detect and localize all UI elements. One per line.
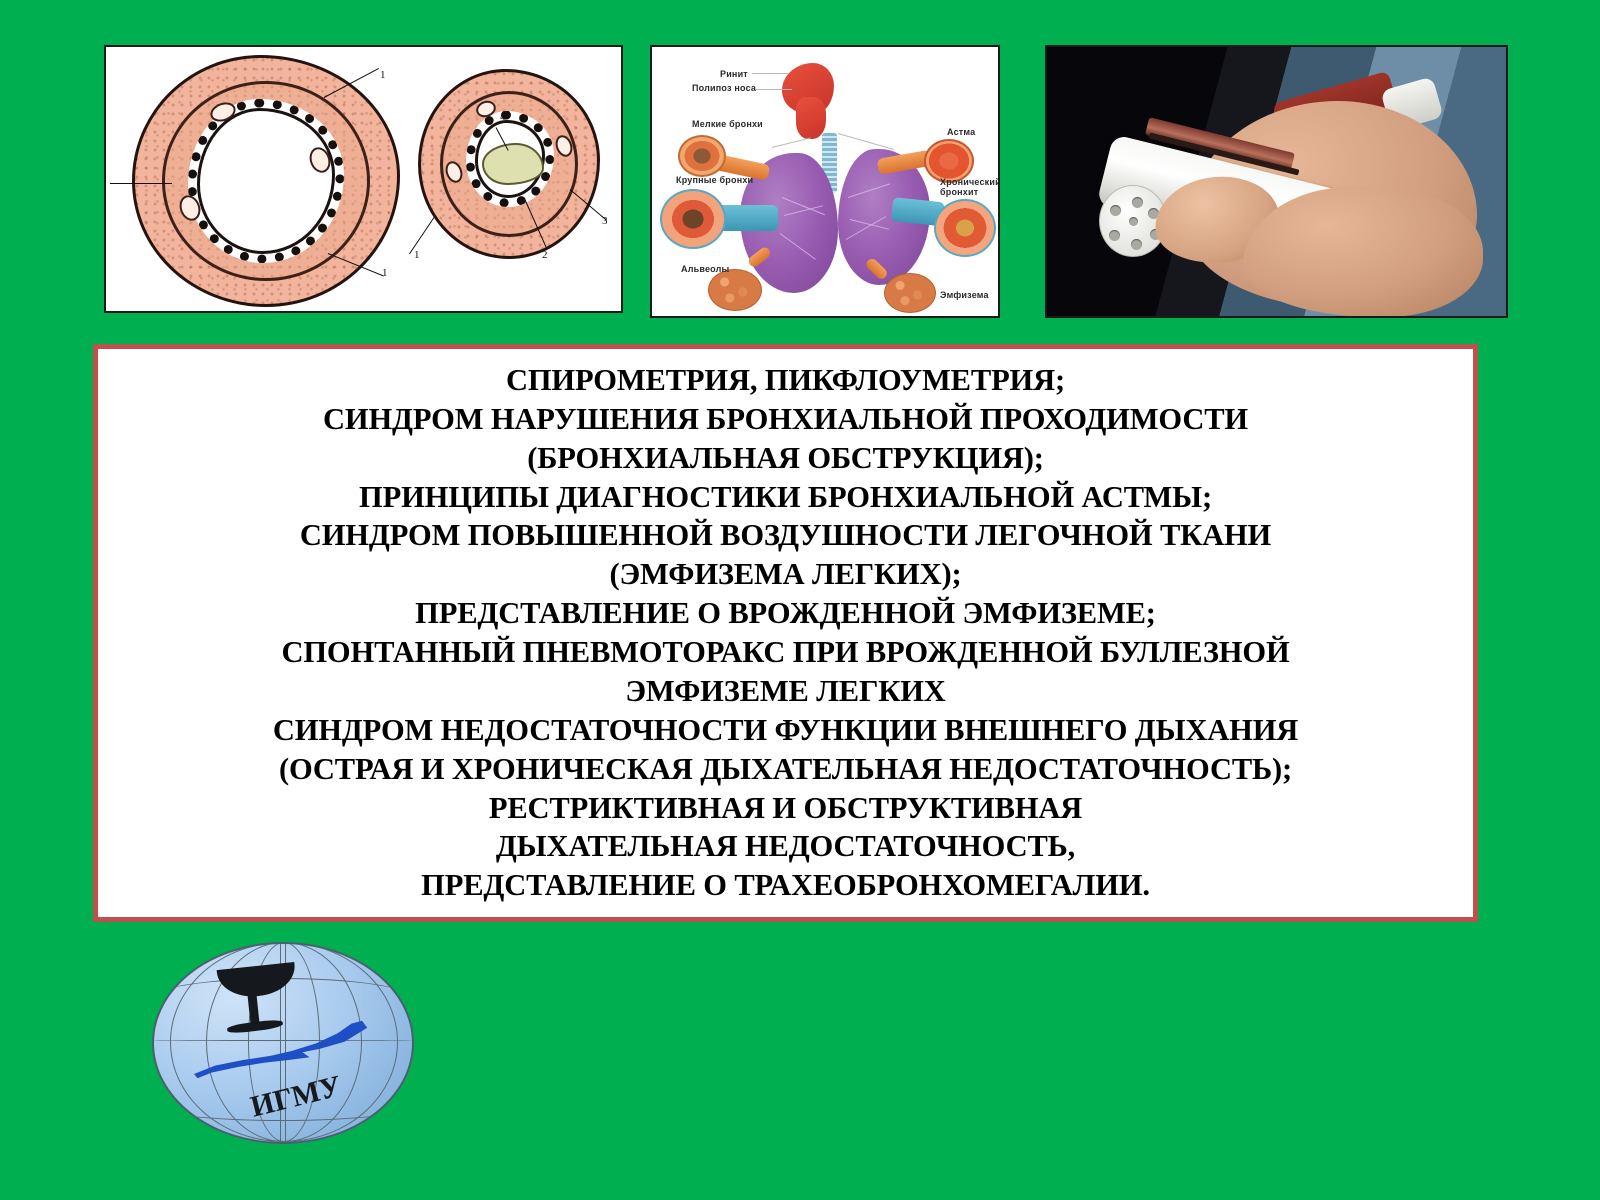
globe-graphic: ИГМУ <box>152 942 414 1144</box>
peak-flow-meter-image <box>1045 45 1508 318</box>
topic-line: СПИРОМЕТРИЯ, ПИКФЛОУМЕТРИЯ; <box>108 361 1463 400</box>
chronic-bronchitis-cross-section <box>934 199 996 257</box>
small-bronchus-cross-section <box>678 135 726 177</box>
topic-line: ДЫХАТЕЛЬНАЯ НЕДОСТАТОЧНОСТЬ, <box>108 827 1463 866</box>
air-hole <box>1110 205 1121 216</box>
label-1-top: 1 <box>380 69 386 81</box>
label-chronic-bronchitis: Хронический бронхит <box>940 177 998 198</box>
air-hole <box>1109 230 1120 241</box>
topic-line: ПРЕДСТАВЛЕНИЕ О ВРОЖДЕННОЙ ЭМФИЗЕМЕ; <box>108 594 1463 633</box>
label-small-bronchi: Мелкие бронхи <box>692 119 763 129</box>
label-2: 2 <box>542 249 548 261</box>
leader-line <box>409 217 434 254</box>
bronchi-cross-section-image: 1 1 3 4 1 2 3 <box>104 45 623 313</box>
topic-line: СИНДРОМ НЕДОСТАТОЧНОСТИ ФУНКЦИИ ВНЕШНЕГО… <box>108 711 1463 750</box>
palm <box>1243 187 1483 317</box>
label-4: 4 <box>500 111 506 123</box>
label-3: 3 <box>602 215 608 227</box>
label-nasal-polyposis: Полипоз носа <box>692 83 756 93</box>
air-hole <box>1132 197 1143 208</box>
topic-line: (ЭМФИЗЕМА ЛЕГКИХ); <box>108 555 1463 594</box>
label-large-bronchi: Крупные бронхи <box>676 175 753 185</box>
label-rhinitis: Ринит <box>720 69 748 79</box>
topic-line: ЭМФИЗЕМЕ ЛЕГКИХ <box>108 672 1463 711</box>
emphysema-alveoli-cluster <box>884 273 936 313</box>
parallel-line <box>152 1040 413 1041</box>
leader-line <box>752 73 788 74</box>
label-asthma: Астма <box>947 127 975 137</box>
topic-line: СПОНТАННЫЙ ПНЕВМОТОРАКС ПРИ ВРОЖДЕННОЙ Б… <box>108 633 1463 672</box>
normal-bronchus-figure: 1 1 3 <box>132 55 400 307</box>
topic-line: СИНДРОМ НАРУШЕНИЯ БРОНХИАЛЬНОЙ ПРОХОДИМО… <box>108 400 1463 439</box>
slide-canvas: 1 1 3 4 1 2 3 <box>0 0 1600 1200</box>
lecture-topics-text: СПИРОМЕТРИЯ, ПИКФЛОУМЕТРИЯ; СИНДРОМ НАРУ… <box>98 361 1473 905</box>
lungs-anatomy-image: Ринит Полипоз носа Мелкие бронхи Крупные… <box>650 45 1000 318</box>
label-3: 3 <box>104 175 106 187</box>
large-bronchus-cross-section <box>660 189 726 249</box>
lecture-topics-panel: СПИРОМЕТРИЯ, ПИКФЛОУМЕТРИЯ; СИНДРОМ НАРУ… <box>93 344 1478 922</box>
air-hole <box>1131 239 1142 250</box>
topic-line: ПРИНЦИПЫ ДИАГНОСТИКИ БРОНХИАЛЬНОЙ АСТМЫ; <box>108 478 1463 517</box>
leader-line <box>756 89 792 90</box>
connector-line <box>838 133 894 150</box>
pharynx-illustration <box>796 97 826 139</box>
topic-line: СИНДРОМ ПОВЫШЕННОЙ ВОЗДУШНОСТИ ЛЕГОЧНОЙ … <box>108 516 1463 555</box>
topic-line: (ОСТРАЯ И ХРОНИЧЕСКАЯ ДЫХАТЕЛЬНАЯ НЕДОСТ… <box>108 750 1463 789</box>
obstructed-bronchus-figure: 4 1 2 3 <box>418 69 600 259</box>
leader-line <box>110 183 172 184</box>
air-hole-center <box>1129 217 1138 226</box>
label-1-bottom: 1 <box>382 267 388 279</box>
topic-line: (БРОНХИАЛЬНАЯ ОБСТРУКЦИЯ); <box>108 439 1463 478</box>
label-1: 1 <box>414 249 420 261</box>
alveoli-cluster <box>708 269 762 311</box>
label-emphysema: Эмфизема <box>940 290 989 300</box>
university-emblem: ИГМУ <box>152 942 410 1140</box>
topic-line: ПРЕДСТАВЛЕНИЕ О ТРАХЕОБРОНХОМЕГАЛИИ. <box>108 866 1463 905</box>
connector-line <box>772 137 811 148</box>
topic-line: РЕСТРИКТИВНАЯ И ОБСТРУКТИВНАЯ <box>108 789 1463 828</box>
mucus-plug <box>482 143 544 185</box>
label-alveoli: Альвеолы <box>681 264 729 274</box>
